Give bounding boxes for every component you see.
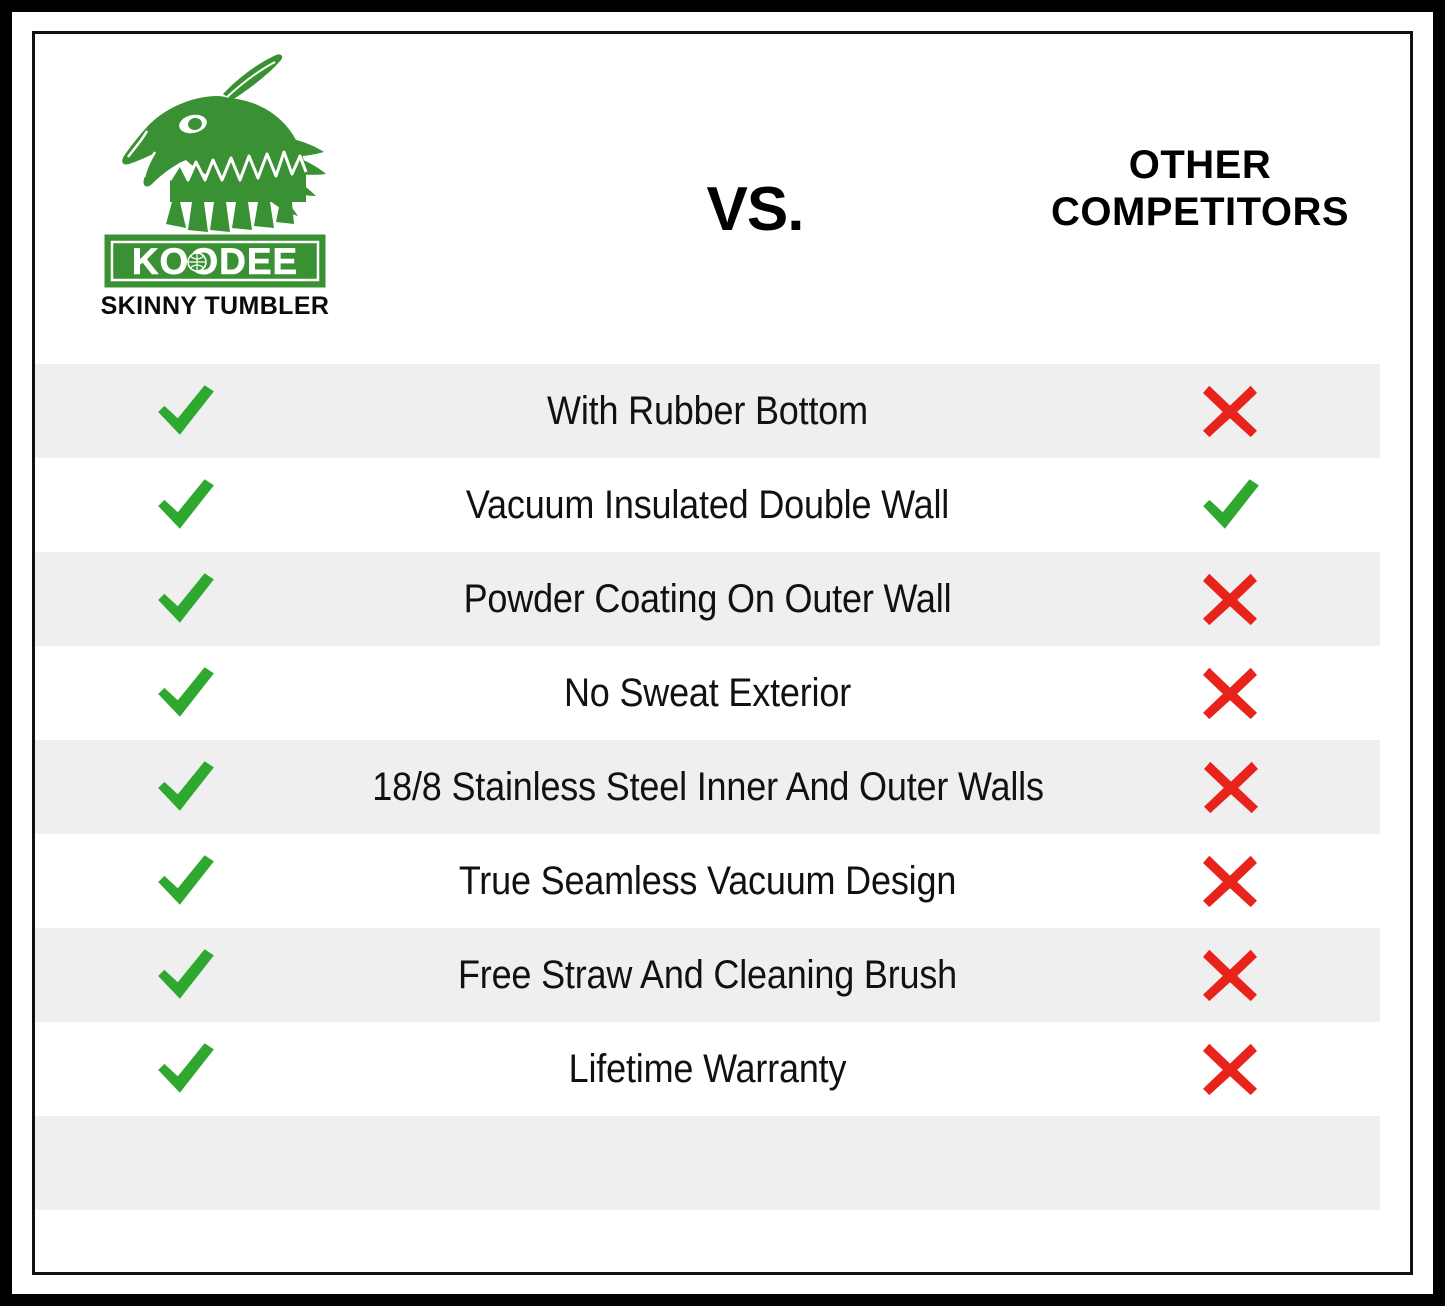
feature-label: Lifetime Warranty — [372, 1047, 1043, 1092]
cross-icon — [1201, 1042, 1259, 1096]
ours-cell — [35, 477, 335, 533]
cross-icon — [1201, 948, 1259, 1002]
theirs-cell — [1080, 572, 1380, 626]
feature-label: Free Straw And Cleaning Brush — [372, 953, 1043, 998]
theirs-cell — [1080, 854, 1380, 908]
koodee-wordmark: KOODEE — [104, 234, 326, 288]
table-row: No Sweat Exterior — [35, 646, 1380, 740]
brand-logo: KOODEE SKINNY TUMBLER — [65, 52, 365, 321]
check-icon — [152, 477, 218, 533]
ours-cell — [35, 1041, 335, 1097]
eagle-head-icon — [100, 52, 330, 234]
empty-row — [35, 1116, 1380, 1210]
feature-label: Powder Coating On Outer Wall — [372, 577, 1043, 622]
check-icon — [152, 947, 218, 1003]
table-row: Powder Coating On Outer Wall — [35, 552, 1380, 646]
brand-subtitle: SKINNY TUMBLER — [65, 292, 365, 321]
cross-icon — [1201, 572, 1259, 626]
theirs-cell — [1081, 760, 1381, 814]
theirs-cell — [1080, 666, 1380, 720]
theirs-cell — [1080, 1042, 1380, 1096]
feature-label: Vacuum Insulated Double Wall — [372, 483, 1043, 528]
check-icon — [152, 759, 218, 815]
check-icon — [152, 571, 218, 627]
comparison-rows: With Rubber BottomVacuum Insulated Doubl… — [35, 364, 1410, 1210]
check-icon — [1197, 477, 1263, 533]
ours-cell — [35, 759, 335, 815]
cross-icon — [1202, 760, 1260, 814]
theirs-cell — [1080, 384, 1380, 438]
theirs-cell — [1080, 948, 1380, 1002]
cross-icon — [1201, 854, 1259, 908]
ours-cell — [35, 383, 335, 439]
chart-header: KOODEE SKINNY TUMBLER VS. OTHER COMPETIT… — [35, 34, 1410, 364]
competitor-header-line1: OTHER — [1020, 142, 1380, 189]
ours-cell — [35, 853, 335, 909]
theirs-cell — [1080, 477, 1380, 533]
ours-cell — [35, 947, 335, 1003]
feature-label: 18/8 Stainless Steel Inner And Outer Wal… — [372, 765, 1043, 810]
cross-icon — [1201, 384, 1259, 438]
table-row: Vacuum Insulated Double Wall — [35, 458, 1380, 552]
competitor-header-line2: COMPETITORS — [1020, 189, 1380, 236]
check-icon — [152, 1041, 218, 1097]
table-row: Free Straw And Cleaning Brush — [35, 928, 1380, 1022]
feature-label: With Rubber Bottom — [372, 389, 1043, 434]
feature-label: True Seamless Vacuum Design — [372, 859, 1043, 904]
check-icon — [152, 853, 218, 909]
check-icon — [152, 383, 218, 439]
competitor-column-header: OTHER COMPETITORS — [1020, 142, 1380, 236]
table-row: True Seamless Vacuum Design — [35, 834, 1380, 928]
feature-label: No Sweat Exterior — [372, 671, 1043, 716]
svg-text:KOODEE: KOODEE — [132, 241, 298, 282]
table-row: With Rubber Bottom — [35, 364, 1380, 458]
table-row: Lifetime Warranty — [35, 1022, 1380, 1116]
comparison-chart: KOODEE SKINNY TUMBLER VS. OTHER COMPETIT… — [35, 34, 1410, 1272]
ours-cell — [35, 665, 335, 721]
check-icon — [152, 665, 218, 721]
vs-label: VS. — [555, 174, 955, 245]
table-row: 18/8 Stainless Steel Inner And Outer Wal… — [35, 740, 1380, 834]
ours-cell — [35, 571, 335, 627]
cross-icon — [1201, 666, 1259, 720]
